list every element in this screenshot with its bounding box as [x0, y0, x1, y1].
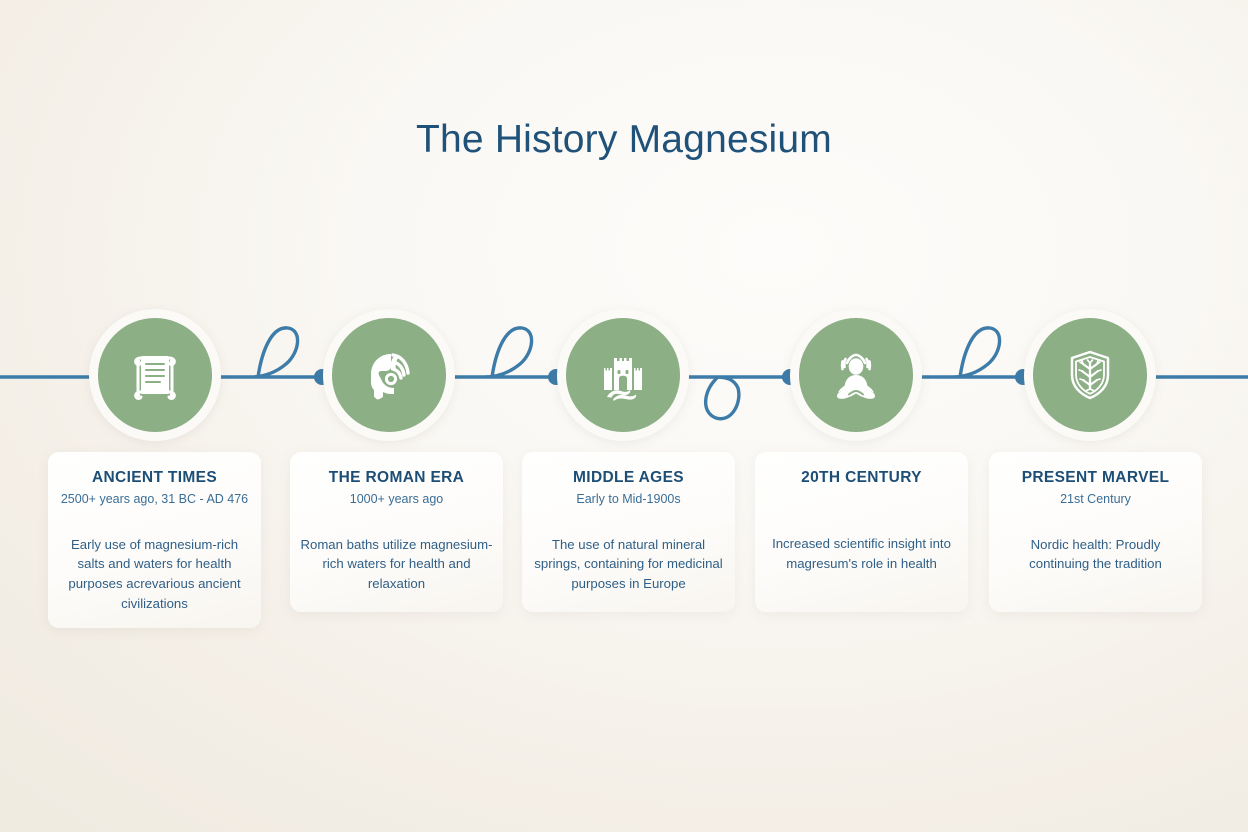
timeline-card-middle-ages[interactable]: MIDDLE AGES Early to Mid-1900s The use o… — [522, 452, 735, 612]
card-body: Nordic health: Proudly continuing the tr… — [999, 535, 1192, 575]
timeline-nodes — [0, 0, 1248, 832]
card-subtitle: 21st Century — [999, 491, 1192, 507]
card-body: Increased scientific insight into magres… — [765, 534, 958, 574]
card-body: The use of natural mineral springs, cont… — [532, 535, 725, 594]
scroll-icon — [125, 345, 185, 405]
card-title: MIDDLE AGES — [532, 468, 725, 487]
card-title: THE ROMAN ERA — [300, 468, 493, 487]
card-subtitle: 2500+ years ago, 31 BC - AD 476 — [58, 491, 251, 507]
castle-spring-icon — [592, 344, 654, 406]
card-title: 20TH CENTURY — [765, 468, 958, 487]
timeline-node-20th-century[interactable] — [790, 309, 922, 441]
roman-helmet-icon — [358, 344, 420, 406]
node-disc — [566, 318, 680, 432]
node-disc — [98, 318, 212, 432]
timeline-node-ancient-times[interactable] — [89, 309, 221, 441]
node-disc — [1033, 318, 1147, 432]
card-subtitle: 1000+ years ago — [300, 491, 493, 507]
card-title: ANCIENT TIMES — [58, 468, 251, 487]
node-disc — [799, 318, 913, 432]
shield-tree-icon — [1059, 344, 1121, 406]
timeline-card-roman-era[interactable]: THE ROMAN ERA 1000+ years ago Roman bath… — [290, 452, 503, 612]
meditation-icon — [825, 344, 887, 406]
timeline-card-present-marvel[interactable]: PRESENT MARVEL 21st Century Nordic healt… — [989, 452, 1202, 612]
card-subtitle: Early to Mid-1900s — [532, 491, 725, 507]
timeline-card-20th-century[interactable]: 20TH CENTURY Increased scientific insigh… — [755, 452, 968, 612]
card-title: PRESENT MARVEL — [999, 468, 1192, 487]
node-disc — [332, 318, 446, 432]
card-body: Early use of magnesium-rich salts and wa… — [58, 535, 251, 614]
timeline-node-present-marvel[interactable] — [1024, 309, 1156, 441]
timeline-card-ancient-times[interactable]: ANCIENT TIMES 2500+ years ago, 31 BC - A… — [48, 452, 261, 628]
card-body: Roman baths utilize magnesium-rich water… — [300, 535, 493, 594]
timeline-node-roman-era[interactable] — [323, 309, 455, 441]
timeline-node-middle-ages[interactable] — [557, 309, 689, 441]
